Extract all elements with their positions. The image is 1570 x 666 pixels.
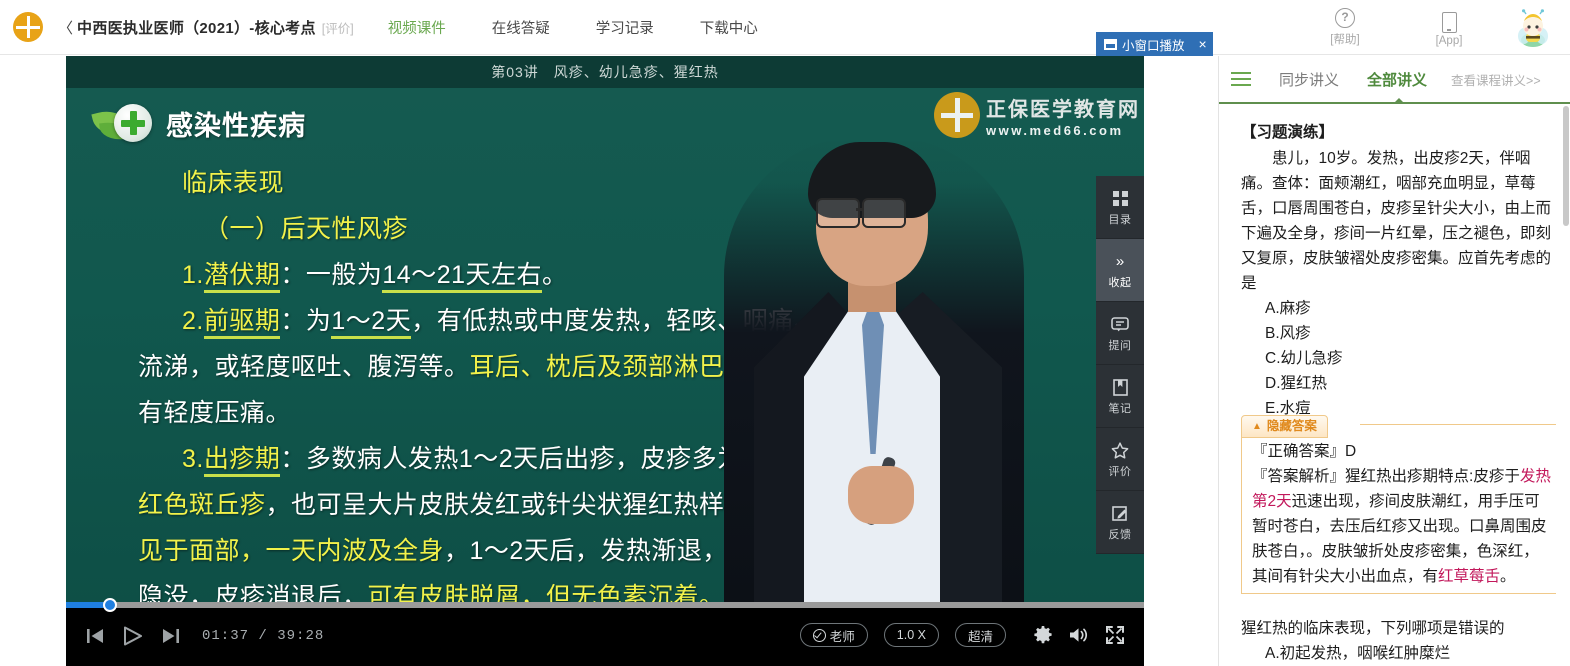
- slide-line-3-text: 流涕，或轻度呕吐、腹泻等。: [138, 353, 470, 381]
- exercise-option-a[interactable]: A.麻疹: [1241, 296, 1556, 321]
- slide-line-1-text-b: 。: [542, 261, 568, 289]
- slide-line-2-number: 2.: [182, 307, 204, 335]
- comment-icon: [1111, 313, 1129, 335]
- slide-line-1-number: 1.: [182, 261, 204, 289]
- lecture-title: 第03讲 风疹、幼儿急疹、猩红热: [491, 62, 719, 82]
- current-time: 01:37: [202, 628, 249, 644]
- chevron-up-icon: ▲: [1252, 414, 1262, 439]
- slide-line-1-text-a: ：一般为: [280, 261, 382, 289]
- video-course-page: 〈 中西医执业医师（2021）-核心考点 [评价] 视频课件 在线答疑 学习记录…: [0, 0, 1570, 666]
- edit-icon: [1112, 502, 1129, 524]
- hide-answer-toggle[interactable]: ▲ 隐藏答案: [1241, 415, 1328, 438]
- slide-heading-row: 感染性疾病: [94, 100, 306, 146]
- video-tool-rail: 目录 » 收起 提问 笔记 评价: [1096, 176, 1144, 554]
- tool-collapse-label: 收起: [1109, 274, 1132, 290]
- tool-catalog-label: 目录: [1109, 211, 1132, 227]
- next-question-option-a[interactable]: A.初起发热，咽喉红肿糜烂: [1241, 641, 1556, 666]
- header-right-actions: ? [帮助] [App]: [1270, 7, 1570, 47]
- bee-avatar-icon: [1514, 9, 1552, 47]
- site-logo[interactable]: [0, 12, 56, 42]
- quality-label: 超清: [968, 626, 993, 645]
- exercise-option-b[interactable]: B.风疹: [1241, 321, 1556, 346]
- video-player[interactable]: 第03讲 风疹、幼儿急疹、猩红热 感染性疾病 临床表现 （一）后天性风疹 1.潜…: [66, 56, 1144, 666]
- help-label: [帮助]: [1330, 31, 1359, 47]
- slide-line-6-text: ，也可呈大片皮肤发红或针尖状猩红热样皮疹，: [266, 491, 802, 519]
- small-window-popup[interactable]: 小窗口播放 ×: [1096, 32, 1213, 56]
- hamburger-icon[interactable]: [1231, 68, 1251, 90]
- answer-analysis: 『答案解析』猩红热出疹期特点:皮疹于发热第2天迅速出现，疹间皮肤潮红，用手压可暂…: [1252, 464, 1554, 589]
- tool-catalog[interactable]: 目录: [1096, 176, 1144, 239]
- question-circle-icon: ?: [1335, 7, 1355, 29]
- small-window-label: 小窗口播放: [1122, 35, 1185, 54]
- note-icon: [1113, 376, 1128, 398]
- play-icon[interactable]: [114, 622, 152, 650]
- check-circle-icon: [813, 629, 826, 642]
- green-cross-leaf-icon: [94, 100, 160, 146]
- correct-answer-line: 『正确答案』D: [1252, 439, 1554, 464]
- tool-ask[interactable]: 提问: [1096, 302, 1144, 365]
- skip-next-icon[interactable]: [152, 622, 190, 650]
- phone-icon: [1442, 11, 1457, 33]
- analysis-text-1: 猩红热出疹期特点:皮疹于: [1345, 468, 1520, 485]
- analysis-label: 『答案解析』: [1252, 468, 1345, 485]
- answer-box: ▲ 隐藏答案 『正确答案』D 『答案解析』猩红热出疹期特点:皮疹于发热第2天迅速…: [1241, 429, 1556, 594]
- next-question-stem: 猩红热的临床表现，下列哪项是错误的: [1241, 616, 1556, 641]
- teacher-label: 老师: [830, 626, 855, 645]
- tool-notes[interactable]: 笔记: [1096, 365, 1144, 428]
- close-icon[interactable]: ×: [1199, 37, 1207, 51]
- nav-item-downloads[interactable]: 下载中心: [700, 17, 758, 38]
- gear-icon[interactable]: [1028, 622, 1058, 648]
- progress-bar[interactable]: [66, 602, 1144, 608]
- main-nav: 视频课件 在线答疑 学习记录 下载中心: [388, 17, 804, 38]
- back-chevron-icon[interactable]: 〈: [58, 17, 73, 38]
- tool-rate-label: 评价: [1109, 463, 1132, 479]
- volume-icon[interactable]: [1064, 622, 1094, 648]
- view-course-notes-link[interactable]: 查看课程讲义>>: [1451, 70, 1541, 89]
- help-button[interactable]: ? [帮助]: [1316, 7, 1374, 47]
- top-header: 〈 中西医执业医师（2021）-核心考点 [评价] 视频课件 在线答疑 学习记录…: [0, 0, 1570, 55]
- analysis-highlight-2: 红草莓舌: [1438, 568, 1500, 585]
- course-eval-tag[interactable]: [评价]: [322, 18, 354, 37]
- site-watermark: 正保医学教育网 www.med66.com: [934, 92, 1140, 138]
- slide-line-2-text-a: ：为: [280, 307, 331, 335]
- tool-notes-label: 笔记: [1109, 400, 1132, 416]
- tool-collapse[interactable]: » 收起: [1096, 239, 1144, 302]
- player-controls: 01:37 / 39:28 老师 1.0 X 超清: [66, 606, 1144, 666]
- slide-line-2-highlight: 1～2天: [331, 307, 411, 339]
- panel-scrollbar[interactable]: [1563, 106, 1569, 226]
- slide-line-7-highlight: 见于面部，一天内波及全身: [138, 537, 444, 565]
- correct-answer-value: D: [1345, 443, 1356, 460]
- slide-line-6-highlight: 红色斑丘疹: [138, 491, 266, 519]
- skip-previous-icon[interactable]: [76, 622, 114, 650]
- slide-line-5-term: 出疹期: [204, 445, 281, 477]
- exercise-heading: 【习题演练】: [1241, 120, 1556, 145]
- tool-feedback-label: 反馈: [1109, 526, 1132, 542]
- exercise-option-d[interactable]: D.猩红热: [1241, 371, 1556, 396]
- slide-heading: 感染性疾病: [166, 104, 306, 143]
- teacher-view-button[interactable]: 老师: [800, 623, 868, 647]
- nav-item-video[interactable]: 视频课件: [388, 17, 446, 38]
- exercise-stem: 患儿，10岁。发热，出皮疹2天，伴咽痛。查体：面颊潮红，咽部充血明显，草莓舌，口…: [1241, 146, 1556, 296]
- slide-line-5-text: ：多数病人发热1～2天后出疹，皮疹多为: [280, 445, 742, 473]
- quality-button[interactable]: 超清: [955, 623, 1006, 647]
- hide-answer-label: 隐藏答案: [1267, 414, 1317, 439]
- chevron-double-right-icon: »: [1116, 250, 1124, 272]
- tab-sync-notes[interactable]: 同步讲义: [1279, 69, 1339, 90]
- tool-feedback[interactable]: 反馈: [1096, 491, 1144, 554]
- total-time: 39:28: [277, 628, 324, 644]
- course-title: 中西医执业医师（2021）-核心考点: [77, 17, 316, 38]
- time-display: 01:37 / 39:28: [202, 628, 324, 644]
- video-title-bar: 第03讲 风疹、幼儿急疹、猩红热: [66, 56, 1144, 88]
- player-right-controls: 老师 1.0 X 超清: [800, 622, 1130, 648]
- nav-item-qa[interactable]: 在线答疑: [492, 17, 550, 38]
- tool-ask-label: 提问: [1109, 337, 1132, 353]
- correct-answer-label: 『正确答案』: [1252, 443, 1345, 460]
- nav-item-records[interactable]: 学习记录: [596, 17, 654, 38]
- med66-cross-logo-icon: [13, 12, 43, 42]
- slide-line-2-term: 前驱期: [204, 307, 281, 339]
- grid-icon: [1113, 187, 1128, 209]
- presenter-figure: [724, 136, 1024, 606]
- tool-rate[interactable]: 评价: [1096, 428, 1144, 491]
- star-icon: [1111, 439, 1129, 461]
- panel-tabs: 同步讲义 全部讲义 查看课程讲义>>: [1219, 56, 1570, 104]
- slide-line-1-highlight: 14～21天左右: [382, 261, 542, 293]
- playback-speed-button[interactable]: 1.0 X: [884, 623, 939, 647]
- tab-all-notes[interactable]: 全部讲义: [1367, 69, 1427, 90]
- panel-content: 【习题演练】 患儿，10岁。发热，出皮疹2天，伴咽痛。查体：面颊潮红，咽部充血明…: [1219, 104, 1570, 666]
- slide-line-1-term: 潜伏期: [204, 261, 281, 293]
- progress-knob[interactable]: [103, 598, 117, 612]
- exercise-option-c[interactable]: C.幼儿急疹: [1241, 346, 1556, 371]
- player-left-controls: 01:37 / 39:28: [76, 622, 324, 650]
- answer-box-rule: [1360, 424, 1556, 425]
- fullscreen-icon[interactable]: [1100, 622, 1130, 648]
- app-button[interactable]: [App]: [1420, 11, 1478, 47]
- watermark-logo-icon: [934, 92, 980, 138]
- avatar[interactable]: [1514, 9, 1552, 47]
- watermark-url: www.med66.com: [986, 123, 1140, 138]
- speed-label: 1.0 X: [897, 628, 926, 642]
- window-icon: [1104, 39, 1117, 50]
- time-separator: /: [258, 628, 267, 644]
- app-label: [App]: [1436, 35, 1463, 47]
- analysis-text-3: 。: [1500, 568, 1516, 585]
- lecture-notes-panel: 同步讲义 全部讲义 查看课程讲义>> 【习题演练】 患儿，10岁。发热，出皮疹2…: [1218, 56, 1570, 666]
- slide-line-5-number: 3.: [182, 445, 204, 473]
- lecture-slide: 感染性疾病 临床表现 （一）后天性风疹 1.潜伏期：一般为14～21天左右。 2…: [66, 88, 1144, 606]
- watermark-name: 正保医学教育网: [986, 93, 1140, 122]
